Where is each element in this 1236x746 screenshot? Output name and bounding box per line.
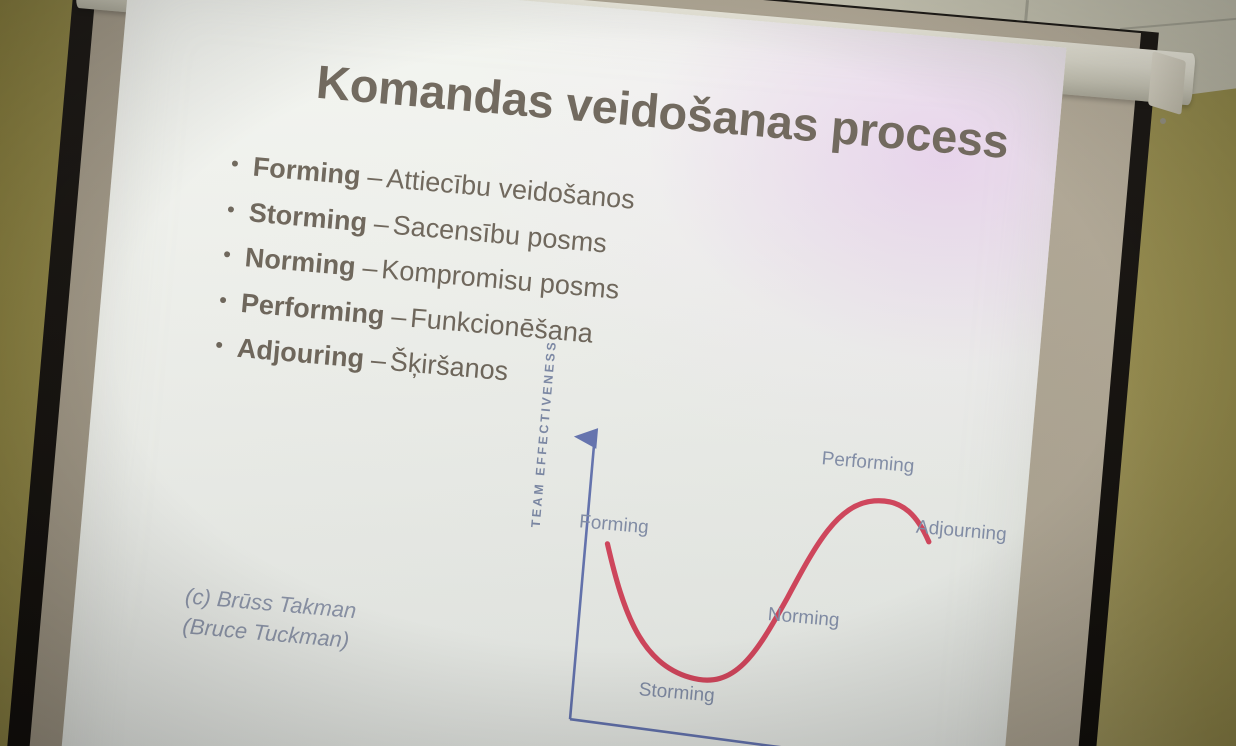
bullet-dot-icon: • bbox=[214, 334, 238, 358]
bullet-description: Kompromisu posms bbox=[380, 252, 621, 307]
roller-screw-icon bbox=[1160, 118, 1166, 124]
bullet-dash: – bbox=[361, 251, 379, 287]
bullet-term: Storming bbox=[247, 195, 368, 240]
bullet-description: Attiecību veidošanos bbox=[385, 161, 636, 217]
photo-scene: Komandas veidošanas process • Forming – … bbox=[0, 0, 1236, 746]
bullet-term: Norming bbox=[244, 240, 358, 284]
chart-y-axis bbox=[570, 438, 595, 719]
bullet-description: Šķiršanos bbox=[389, 344, 510, 389]
projector-screen-roller-cap bbox=[1148, 51, 1186, 115]
bullet-dash: – bbox=[366, 160, 384, 196]
slide-title: Komandas veidošanas process bbox=[315, 57, 1037, 169]
tuckman-curve-chart: TEAM EFFECTIVENESS Forming Storming Norm… bbox=[516, 416, 1013, 746]
bullet-dot-icon: • bbox=[226, 198, 250, 222]
slide-bullet-list: • Forming – Attiecību veidošanos • Storm… bbox=[213, 148, 990, 441]
chart-curve-line bbox=[596, 477, 932, 698]
bullet-dot-icon: • bbox=[222, 243, 246, 267]
chart-x-axis bbox=[568, 719, 968, 746]
credit-attribution: (c) Brūss Takman (Bruce Tuckman) bbox=[181, 581, 357, 656]
bullet-dot-icon: • bbox=[218, 289, 242, 313]
bullet-description: Funkcionēšana bbox=[409, 300, 594, 350]
bullet-term: Forming bbox=[251, 150, 362, 194]
bullet-dash: – bbox=[370, 343, 388, 379]
bullet-dash: – bbox=[373, 206, 391, 242]
bullet-dot-icon: • bbox=[230, 153, 254, 177]
bullet-dash: – bbox=[390, 299, 408, 335]
bullet-description: Sacensību posms bbox=[391, 208, 608, 261]
projected-slide: Komandas veidošanas process • Forming – … bbox=[57, 0, 1067, 746]
bullet-term: Adjouring bbox=[236, 331, 366, 377]
chart-svg bbox=[516, 416, 1013, 746]
bullet-term: Performing bbox=[240, 286, 386, 333]
